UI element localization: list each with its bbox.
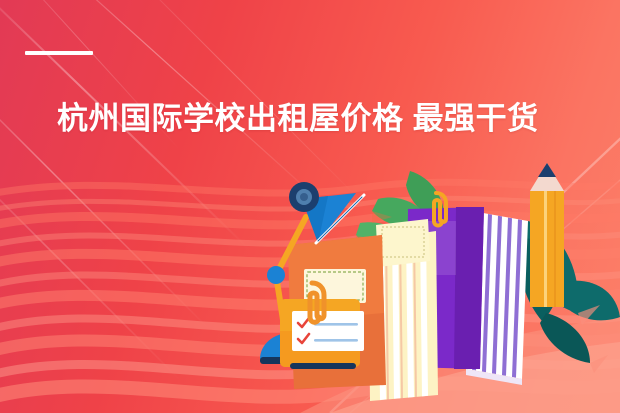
headline-accent-rule	[25, 51, 93, 55]
desk-study-supplies-illustration	[260, 163, 620, 413]
page-title: 杭州国际学校出租屋价格 最强干货	[57, 100, 539, 139]
promo-banner: 杭州国际学校出租屋价格 最强干货	[0, 0, 620, 413]
pencil-icon	[530, 163, 564, 307]
